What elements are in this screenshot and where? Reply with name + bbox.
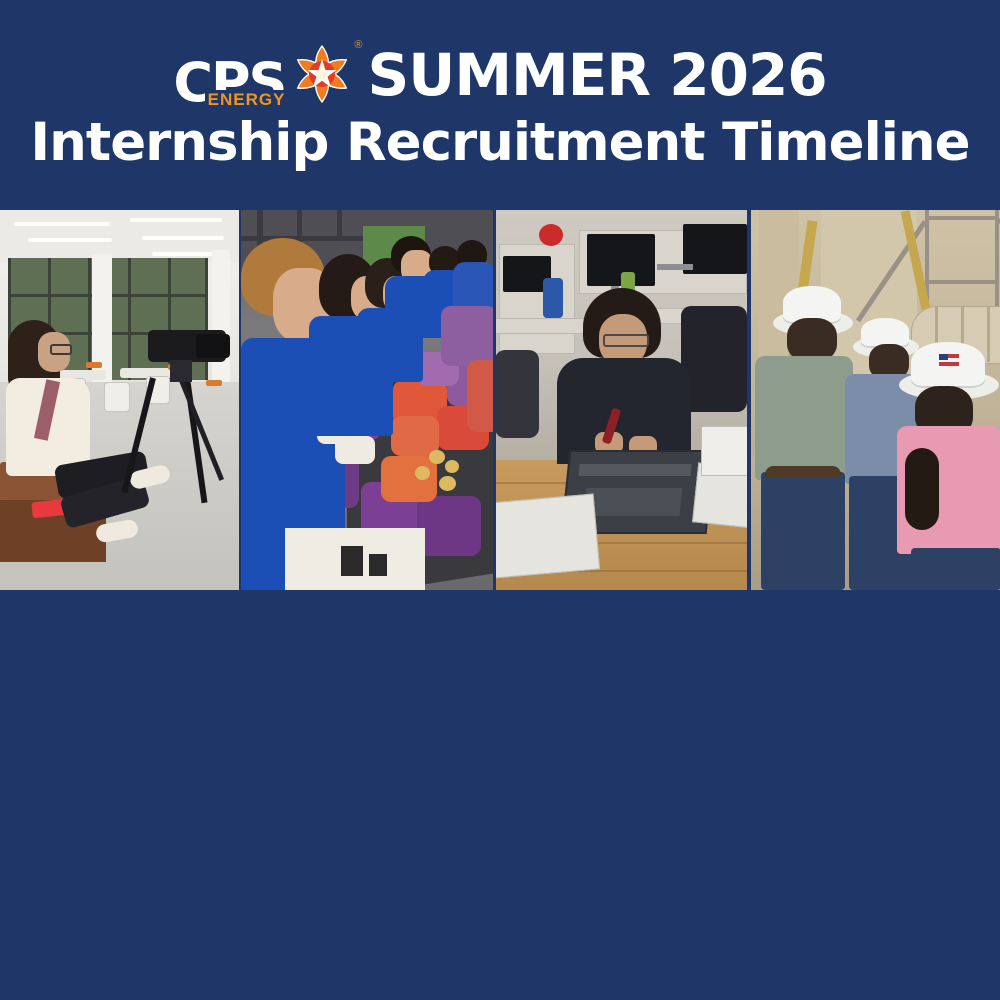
poster-header: CPS ENERGY xyxy=(0,0,1000,210)
header-title-row: CPS ENERGY xyxy=(0,36,1000,114)
registered-trademark-icon: ® xyxy=(354,39,362,51)
photo-strip xyxy=(0,210,1000,590)
logo-sub-text: ENERGY xyxy=(205,90,288,110)
photo-seam xyxy=(494,210,496,590)
sunburst-icon: ® xyxy=(291,43,353,105)
photo-seam xyxy=(749,210,751,590)
logo-wordmark: CPS ENERGY xyxy=(173,59,285,107)
photo-laptop-repair xyxy=(495,210,747,590)
photo-volunteers-food-bank xyxy=(241,210,493,590)
timeline-section: Mar. 23 THROUGH April 24 Interviews Cond… xyxy=(0,590,1000,1000)
photo-interview-atrium xyxy=(0,210,239,590)
cps-energy-logo: CPS ENERGY xyxy=(173,43,353,107)
poster-root: CPS ENERGY xyxy=(0,0,1000,1000)
photo-plant-tour xyxy=(749,210,1000,590)
photo-seam xyxy=(239,210,241,590)
page-title: Internship Recruitment Timeline xyxy=(0,112,1000,173)
header-summer-title: SUMMER 2026 xyxy=(367,41,826,109)
